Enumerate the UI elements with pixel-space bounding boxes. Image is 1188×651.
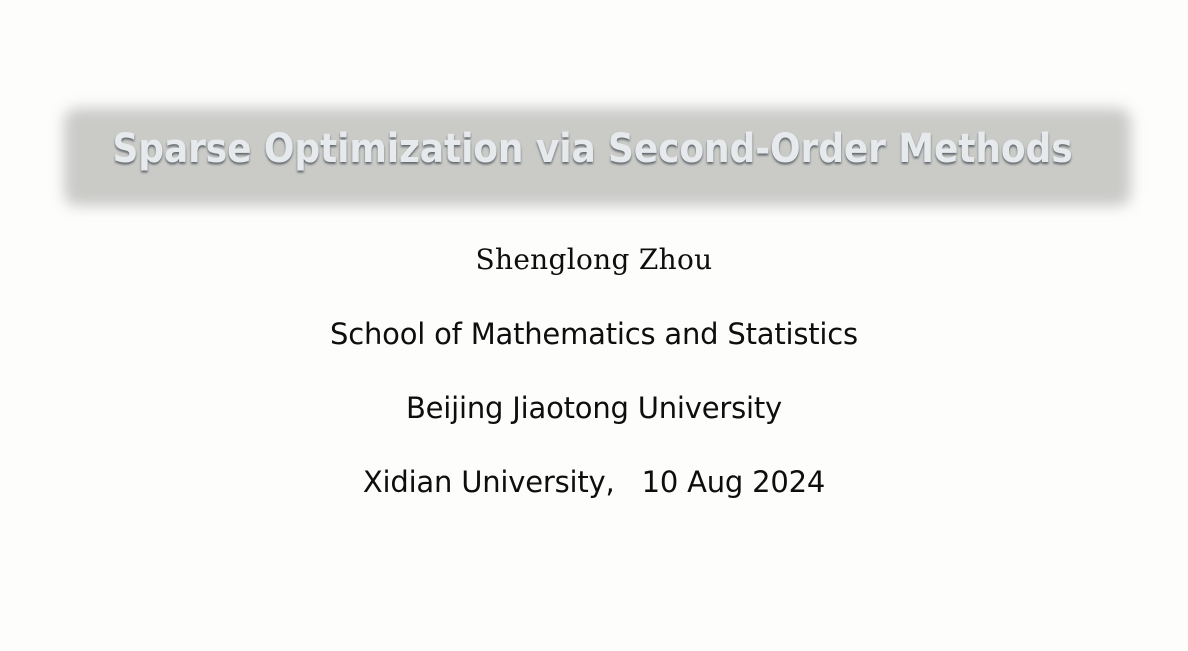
venue-and-date: Xidian University, 10 Aug 2024	[0, 468, 1188, 542]
presentation-slide: Sparse Optimization via Second-Order Met…	[0, 0, 1188, 651]
slide-title: Sparse Optimization via Second-Order Met…	[58, 129, 1125, 173]
title-bar: Sparse Optimization via Second-Order Met…	[58, 102, 1125, 200]
author-department: School of Mathematics and Statistics	[0, 320, 1188, 394]
byline-block: Shenglong Zhou School of Mathematics and…	[0, 246, 1188, 542]
author-name: Shenglong Zhou	[0, 246, 1188, 320]
author-institution: Beijing Jiaotong University	[0, 394, 1188, 468]
